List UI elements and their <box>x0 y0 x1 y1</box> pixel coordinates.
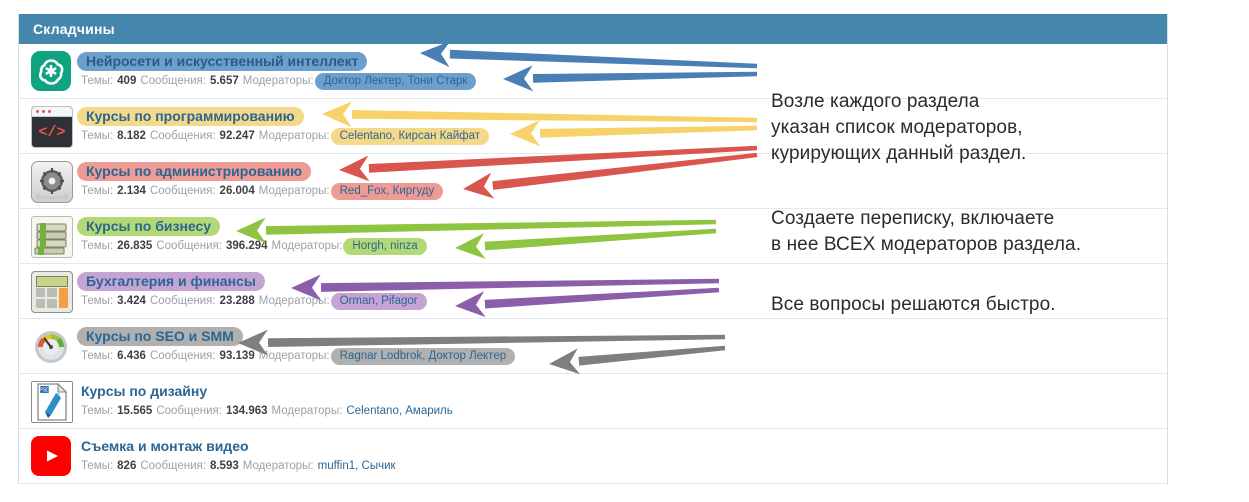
topics-label: Темы: <box>81 349 113 364</box>
forum-title-link[interactable]: Нейросети и искусственный интеллект <box>77 52 367 71</box>
calculator-icon <box>31 271 73 313</box>
topics-label: Темы: <box>81 404 113 419</box>
topics-label: Темы: <box>81 129 113 144</box>
forum-icon <box>31 216 71 256</box>
forum-title-link[interactable]: Курсы по администрированию <box>77 162 311 181</box>
messages-value: 26.004 <box>220 184 255 199</box>
moderators-value[interactable]: Доктор Лектер, Тони Старк <box>315 73 477 90</box>
forum-icon: PSD <box>31 381 71 421</box>
moderators-value[interactable]: Celentano, Кирсан Кайфат <box>331 128 489 145</box>
messages-label: Сообщения: <box>156 404 222 419</box>
topics-value: 3.424 <box>117 294 146 309</box>
messages-value: 23.288 <box>220 294 255 309</box>
moderators-value[interactable]: Red_Fox, Киргуду <box>331 183 444 200</box>
moderators-label: Модераторы: <box>259 129 330 144</box>
gear-icon <box>31 161 73 203</box>
topics-value: 2.134 <box>117 184 146 199</box>
messages-label: Сообщения: <box>140 459 206 474</box>
moderators-label: Модераторы: <box>272 239 343 254</box>
forum-row-body: Бухгалтерия и финансыТемы:3.424Сообщения… <box>81 272 427 310</box>
money-stack-icon <box>31 216 73 258</box>
topics-value: 26.835 <box>117 239 152 254</box>
moderators-label: Модераторы: <box>259 294 330 309</box>
forum-row[interactable]: Курсы по SEO и SMMТемы:6.436Сообщения:93… <box>19 319 1167 374</box>
moderators-value[interactable]: muffin1, Сычик <box>318 458 396 475</box>
topics-value: 8.182 <box>117 129 146 144</box>
openai-icon <box>31 51 71 91</box>
forum-title-link[interactable]: Курсы по SEO и SMM <box>77 327 243 346</box>
forum-meta: Темы:6.436Сообщения:93.139Модераторы:Rag… <box>81 348 515 365</box>
messages-label: Сообщения: <box>150 294 216 309</box>
svg-text:PSD: PSD <box>39 388 50 394</box>
forum-row-body: Съемка и монтаж видеоТемы:826Сообщения:8… <box>81 437 396 475</box>
messages-label: Сообщения: <box>150 184 216 199</box>
topics-label: Темы: <box>81 294 113 309</box>
speedometer-icon <box>31 326 71 366</box>
screenshot-root: Складчины Нейросети и искусственный инте… <box>0 0 1249 502</box>
topics-label: Темы: <box>81 184 113 199</box>
forum-icon <box>31 436 71 476</box>
forum-row-body: Курсы по программированиюТемы:8.182Сообщ… <box>81 107 489 145</box>
forum-icon: </> <box>31 106 71 146</box>
forum-icon <box>31 51 71 91</box>
forum-row-body: Курсы по администрированиюТемы:2.134Сооб… <box>81 162 443 200</box>
topics-value: 15.565 <box>117 404 152 419</box>
moderators-value[interactable]: Orman, Pifagor <box>331 293 427 310</box>
forum-row[interactable]: PSDКурсы по дизайнуТемы:15.565Сообщения:… <box>19 374 1167 429</box>
messages-label: Сообщения: <box>140 74 206 89</box>
moderators-label: Модераторы: <box>272 404 343 419</box>
messages-label: Сообщения: <box>156 239 222 254</box>
psd-file-icon: PSD <box>31 381 73 423</box>
annotation-note-2: Создаете переписку, включаете в нее ВСЕХ… <box>771 206 1081 258</box>
forum-row-body: Нейросети и искусственный интеллектТемы:… <box>81 52 476 90</box>
forum-title-link[interactable]: Съемка и монтаж видео <box>81 437 258 456</box>
topics-label: Темы: <box>81 74 113 89</box>
topics-value: 409 <box>117 74 136 89</box>
panel-header: Складчины <box>19 14 1167 44</box>
messages-label: Сообщения: <box>150 129 216 144</box>
forum-meta: Темы:26.835Сообщения:396.294Модераторы:H… <box>81 238 427 255</box>
forum-title-link[interactable]: Курсы по бизнесу <box>77 217 220 236</box>
forum-meta: Темы:826Сообщения:8.593Модераторы:muffin… <box>81 458 396 475</box>
topics-value: 6.436 <box>117 349 146 364</box>
forum-title-link[interactable]: Курсы по дизайну <box>81 382 216 401</box>
forum-icon <box>31 161 71 201</box>
youtube-icon <box>31 436 71 476</box>
topics-label: Темы: <box>81 459 113 474</box>
code-icon: </> <box>31 106 73 148</box>
forum-row-body: Курсы по SEO и SMMТемы:6.436Сообщения:93… <box>81 327 515 365</box>
messages-value: 396.294 <box>226 239 268 254</box>
topics-label: Темы: <box>81 239 113 254</box>
moderators-value[interactable]: Celentano, Амариль <box>346 403 452 420</box>
forum-meta: Темы:409Сообщения:5.657Модераторы:Доктор… <box>81 73 476 90</box>
messages-value: 134.963 <box>226 404 268 419</box>
annotation-note-1: Возле каждого раздела указан список моде… <box>771 89 1026 167</box>
forum-icon <box>31 271 71 311</box>
forum-icon <box>31 326 71 366</box>
moderators-label: Модераторы: <box>243 74 314 89</box>
moderators-label: Модераторы: <box>243 459 314 474</box>
messages-value: 92.247 <box>220 129 255 144</box>
moderators-value[interactable]: Horgh, ninza <box>343 238 426 255</box>
forum-row-body: Курсы по дизайнуТемы:15.565Сообщения:134… <box>81 382 453 420</box>
messages-label: Сообщения: <box>150 349 216 364</box>
moderators-label: Модераторы: <box>259 349 330 364</box>
messages-value: 8.593 <box>210 459 239 474</box>
messages-value: 5.657 <box>210 74 239 89</box>
panel-header-title: Складчины <box>33 21 115 37</box>
moderators-value[interactable]: Ragnar Lodbrok, Доктор Лектер <box>331 348 516 365</box>
forum-title-link[interactable]: Курсы по программированию <box>77 107 304 126</box>
annotation-note-3: Все вопросы решаются быстро. <box>771 292 1056 318</box>
topics-value: 826 <box>117 459 136 474</box>
forum-meta: Темы:8.182Сообщения:92.247Модераторы:Cel… <box>81 128 489 145</box>
moderators-label: Модераторы: <box>259 184 330 199</box>
messages-value: 93.139 <box>220 349 255 364</box>
forum-row-body: Курсы по бизнесуТемы:26.835Сообщения:396… <box>81 217 427 255</box>
forum-meta: Темы:3.424Сообщения:23.288Модераторы:Orm… <box>81 293 427 310</box>
forum-meta: Темы:15.565Сообщения:134.963Модераторы:C… <box>81 403 453 420</box>
forum-meta: Темы:2.134Сообщения:26.004Модераторы:Red… <box>81 183 443 200</box>
forum-row[interactable]: Съемка и монтаж видеоТемы:826Сообщения:8… <box>19 429 1167 484</box>
forum-title-link[interactable]: Бухгалтерия и финансы <box>77 272 265 291</box>
